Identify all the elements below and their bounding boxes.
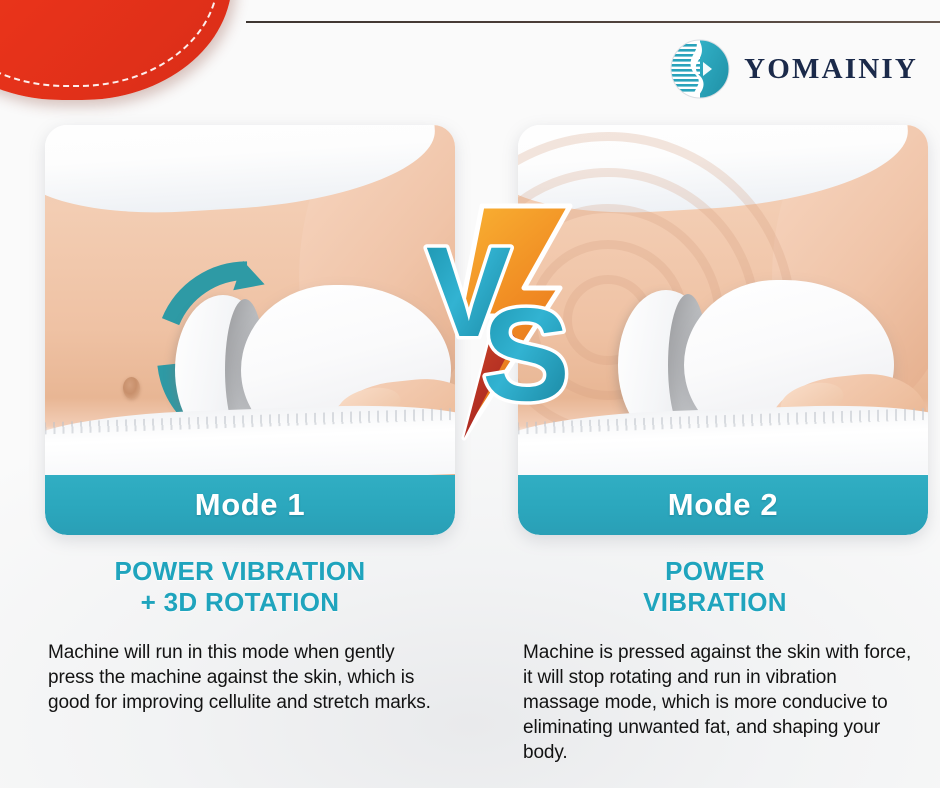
mode-2-description: Machine is pressed against the skin with… bbox=[505, 640, 925, 765]
mode-2-banner: Mode 2 bbox=[518, 475, 928, 535]
mode-1-text-column: POWER VIBRATION + 3D ROTATION Machine wi… bbox=[30, 556, 450, 715]
brand-name: YOMAINIY bbox=[744, 53, 918, 86]
mode-1-headline-line2: + 3D ROTATION bbox=[30, 587, 450, 618]
top-divider bbox=[246, 21, 940, 23]
red-ribbon-decoration bbox=[0, 0, 232, 100]
navel bbox=[123, 377, 140, 399]
mode-2-headline-line1: POWER bbox=[505, 556, 925, 587]
mode-2-headline: POWER VIBRATION bbox=[505, 556, 925, 618]
mode-1-description: Machine will run in this mode when gentl… bbox=[30, 640, 450, 715]
mode-2-label: Mode 2 bbox=[668, 487, 778, 523]
mode-2-headline-line2: VIBRATION bbox=[505, 587, 925, 618]
brand-logo: YOMAINIY bbox=[669, 38, 918, 100]
mode-2-photo bbox=[518, 125, 928, 475]
mode-2-text-column: POWER VIBRATION Machine is pressed again… bbox=[505, 556, 925, 765]
mode-1-photo bbox=[45, 125, 455, 475]
mode-1-banner: Mode 1 bbox=[45, 475, 455, 535]
mode-1-headline: POWER VIBRATION + 3D ROTATION bbox=[30, 556, 450, 618]
mode-card-1[interactable]: Mode 1 bbox=[45, 125, 455, 535]
body-silhouette-globe-icon bbox=[669, 38, 731, 100]
mode-1-label: Mode 1 bbox=[195, 487, 305, 523]
mode-card-2[interactable]: Mode 2 bbox=[518, 125, 928, 535]
mode-1-headline-line1: POWER VIBRATION bbox=[30, 556, 450, 587]
